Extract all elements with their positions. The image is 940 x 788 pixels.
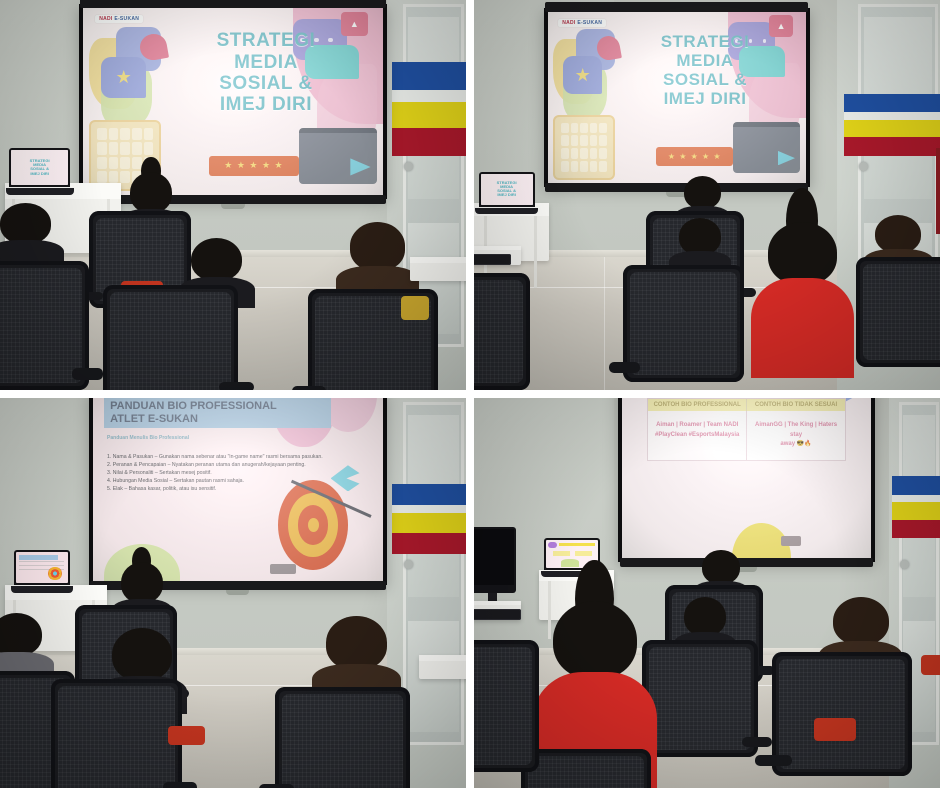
screen-bottom-bar xyxy=(80,195,386,204)
slide-title: STRATEGI MEDIA SOSIAL & IMEJ DIRI xyxy=(625,32,785,108)
slide-heading: PANDUAN BIO PROFESSIONAL ATLET E-SUKAN xyxy=(104,398,330,428)
door xyxy=(403,402,465,745)
chair-2 xyxy=(623,265,744,382)
chair-2 xyxy=(0,261,89,390)
projector-screen: CONTOH BIO PROFESSIONAL CONTOH BIO TIDAK… xyxy=(618,398,874,562)
table-body-row: Aiman | Roamer | Team NADI #PlayClean #E… xyxy=(648,411,845,460)
chair-5 xyxy=(474,273,530,390)
cell-bio-professional: Aiman | Roamer | Team NADI #PlayClean #E… xyxy=(648,411,746,460)
slide-title: STRATEGI MEDIA SOSIAL & IMEJ DIRI xyxy=(173,30,359,115)
presenter-laptop[interactable] xyxy=(14,550,70,593)
photo-panel-top-right: ★ ▲ NADI E-SUKAN STRATEGI MEDIA SOSIAL & xyxy=(474,0,940,390)
photo-collage: ★ ▲ NADI E-SUKAN STRATEGI MEDIA SOSIAL & xyxy=(0,0,940,788)
door-stripe-decal xyxy=(892,476,940,538)
keyboard[interactable] xyxy=(474,609,521,621)
classroom-scene: ★ ▲ NADI E-SUKAN STRATEGI MEDIA SOSIAL & xyxy=(0,0,466,390)
classroom-scene-wide: ★ ▲ NADI E-SUKAN STRATEGI MEDIA SOSIAL & xyxy=(474,0,940,390)
chair-3 xyxy=(521,749,651,788)
slide-subheading: Panduan Menulis Bio Professional xyxy=(107,435,189,441)
screen-roller xyxy=(80,0,386,8)
chair-5 xyxy=(772,652,912,777)
photo-panel-bottom-right: CONTOH BIO PROFESSIONAL CONTOH BIO TIDAK… xyxy=(474,398,940,788)
projector-screen: ★ ▲ NADI E-SUKAN STRATEGI MEDIA SOSIAL & xyxy=(79,4,387,199)
door-stripe-decal xyxy=(392,62,466,156)
attendee-2 xyxy=(0,203,51,269)
door-knob-icon xyxy=(404,560,413,569)
classroom-scene-bio-compare: CONTOH BIO PROFESSIONAL CONTOH BIO TIDAK… xyxy=(474,398,940,788)
photo-panel-bottom-left: PANDUAN BIO PROFESSIONAL ATLET E-SUKAN P… xyxy=(0,398,466,788)
desktop-monitor xyxy=(474,527,516,593)
backpack xyxy=(814,718,856,741)
star-rating: ★ ★ ★ ★ ★ xyxy=(656,147,733,166)
star-icon: ★ xyxy=(563,56,602,94)
star-rating: ★ ★ ★ ★ ★ xyxy=(209,156,299,177)
keyboard[interactable] xyxy=(474,254,511,266)
door-stripe-decal xyxy=(392,484,466,554)
table-header-row: CONTOH BIO PROFESSIONAL CONTOH BIO TIDAK… xyxy=(648,399,845,411)
chair-4 xyxy=(275,687,410,788)
shelf-edge xyxy=(936,148,940,234)
side-desk xyxy=(410,257,466,280)
projected-slide-bio-compare: CONTOH BIO PROFESSIONAL CONTOH BIO TIDAK… xyxy=(622,398,870,558)
bag xyxy=(168,726,205,746)
target-icon xyxy=(278,480,348,570)
comparison-table: CONTOH BIO PROFESSIONAL CONTOH BIO TIDAK… xyxy=(647,398,846,461)
door-knob-icon xyxy=(900,560,909,569)
column-header-unsuitable: CONTOH BIO TIDAK SESUAI xyxy=(746,399,845,411)
nadi-esukan-logo: NADI E-SUKAN xyxy=(95,15,143,23)
attendee-3-red-shirt xyxy=(768,222,838,378)
door-knob-icon xyxy=(404,162,413,171)
bag-side xyxy=(921,655,940,675)
door-stripe-decal xyxy=(844,94,940,156)
chair-3 xyxy=(51,679,181,788)
photo-panel-top-left: ★ ▲ NADI E-SUKAN STRATEGI MEDIA SOSIAL & xyxy=(0,0,466,390)
door-knob-icon xyxy=(859,162,868,171)
star-icon: ★ xyxy=(101,57,146,98)
chair-2 xyxy=(642,640,759,757)
classroom-scene-bio-guide: PANDUAN BIO PROFESSIONAL ATLET E-SUKAN P… xyxy=(0,398,466,788)
projector-screen: ★ ▲ NADI E-SUKAN STRATEGI MEDIA SOSIAL & xyxy=(544,8,810,187)
projected-slide-title: ★ ▲ NADI E-SUKAN STRATEGI MEDIA SOSIAL & xyxy=(83,8,383,195)
backpack xyxy=(401,296,429,319)
side-desk xyxy=(419,655,466,678)
chair-4 xyxy=(856,257,940,366)
column-header-professional: CONTOH BIO PROFESSIONAL xyxy=(648,399,746,411)
chair-4 xyxy=(474,640,539,773)
presenter-laptop[interactable]: STRATEGI MEDIA SOSIAL & IMEJ DIRI xyxy=(9,148,70,195)
chair-3 xyxy=(103,285,238,390)
cell-bio-unsuitable: AimanGG | The King | Haters stay away 😎🔥 xyxy=(746,411,845,460)
presenter-laptop[interactable]: STRATEGI MEDIA SOSIAL & IMEJ DIRI xyxy=(479,172,535,215)
nadi-esukan-logo: NADI E-SUKAN xyxy=(558,19,606,27)
projected-slide-title: ★ ▲ NADI E-SUKAN STRATEGI MEDIA SOSIAL & xyxy=(548,12,806,183)
